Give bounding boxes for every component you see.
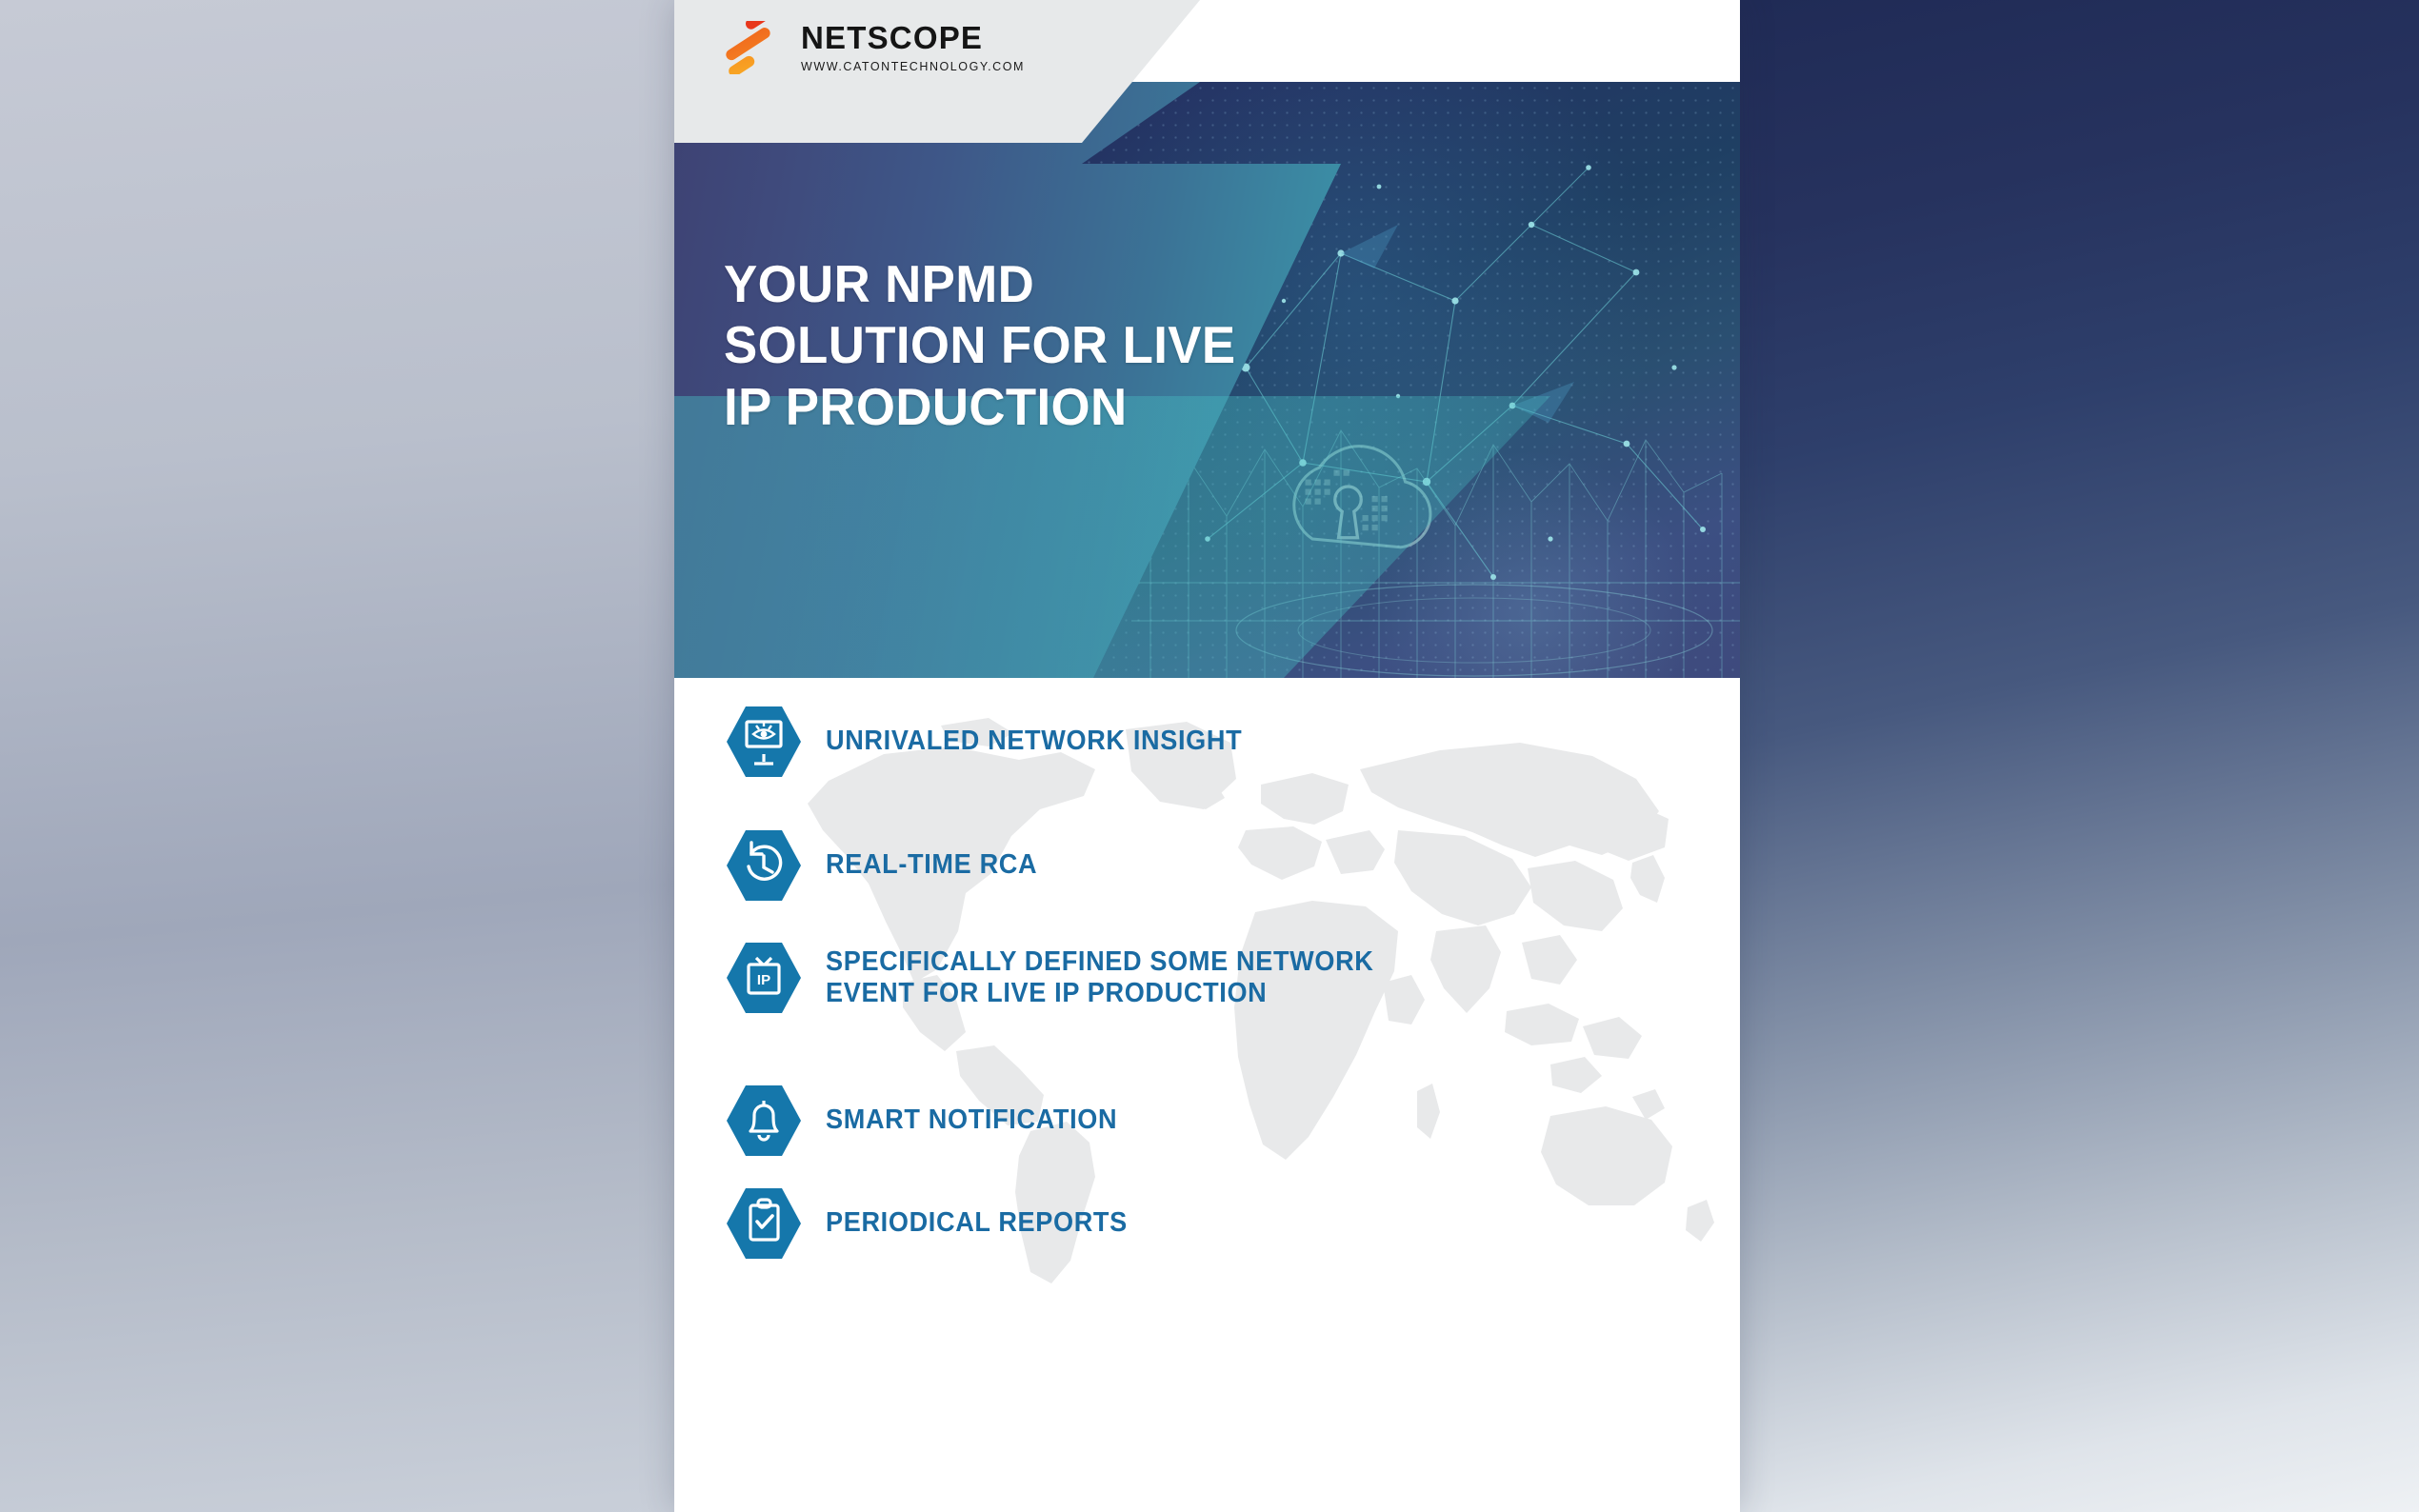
feature-item-unrivaled-network-insight[interactable]: UNRIVALED NETWORK INSIGHT (727, 701, 1264, 783)
feature-label: REAL-TIME RCA (826, 849, 1037, 881)
feature-label: UNRIVALED NETWORK INSIGHT (826, 726, 1242, 757)
poster-document: NETSCOPE WWW.CATONTECHNOLOGY.COM (674, 0, 1740, 1512)
clipboard-check-icon (727, 1183, 801, 1264)
features-list: UNRIVALED NETWORK INSIGHT REAL-TIME RCA (674, 678, 1740, 1512)
feature-icon-wrapper (727, 701, 801, 783)
three-diagonal-bars-logo-icon (719, 21, 788, 74)
feature-item-periodical-reports[interactable]: PERIODICAL REPORTS (727, 1183, 1144, 1264)
clock-history-icon (727, 825, 801, 906)
page-title: YOUR NPMD SOLUTION FOR LIVE IP PRODUCTIO… (724, 253, 1235, 437)
page-background-right (1740, 0, 2419, 1512)
feature-label: SMART NOTIFICATION (826, 1104, 1117, 1136)
bell-icon (727, 1080, 801, 1162)
features-section: UNRIVALED NETWORK INSIGHT REAL-TIME RCA (674, 678, 1740, 1512)
page-title-line-1: YOUR NPMD (724, 253, 1235, 314)
svg-text:IP: IP (757, 972, 770, 988)
feature-icon-wrapper: IP (727, 937, 801, 1019)
feature-item-smart-notification[interactable]: SMART NOTIFICATION (727, 1080, 1132, 1162)
page-title-line-3: IP PRODUCTION (724, 376, 1235, 437)
tv-ip-icon: IP (727, 937, 801, 1019)
hero-banner: YOUR NPMD SOLUTION FOR LIVE IP PRODUCTIO… (674, 82, 1740, 678)
brand-name: NETSCOPE (801, 22, 1025, 53)
feature-item-network-event-live-ip[interactable]: IP SPECIFICALLY DEFINED SOME NETWORK EVE… (727, 937, 1403, 1019)
logo-header: NETSCOPE WWW.CATONTECHNOLOGY.COM (674, 0, 1740, 143)
feature-label: SPECIFICALLY DEFINED SOME NETWORK EVENT … (826, 946, 1374, 1010)
feature-icon-wrapper (727, 1080, 801, 1162)
brand-logo[interactable]: NETSCOPE WWW.CATONTECHNOLOGY.COM (719, 21, 1025, 74)
brand-url: WWW.CATONTECHNOLOGY.COM (801, 60, 1025, 73)
monitor-eye-icon (727, 701, 801, 783)
feature-label: PERIODICAL REPORTS (826, 1207, 1128, 1239)
page-background-left (0, 0, 686, 1512)
page-title-line-2: SOLUTION FOR LIVE (724, 314, 1235, 375)
feature-icon-wrapper (727, 825, 801, 906)
feature-icon-wrapper (727, 1183, 801, 1264)
feature-item-real-time-rca[interactable]: REAL-TIME RCA (727, 825, 1049, 906)
